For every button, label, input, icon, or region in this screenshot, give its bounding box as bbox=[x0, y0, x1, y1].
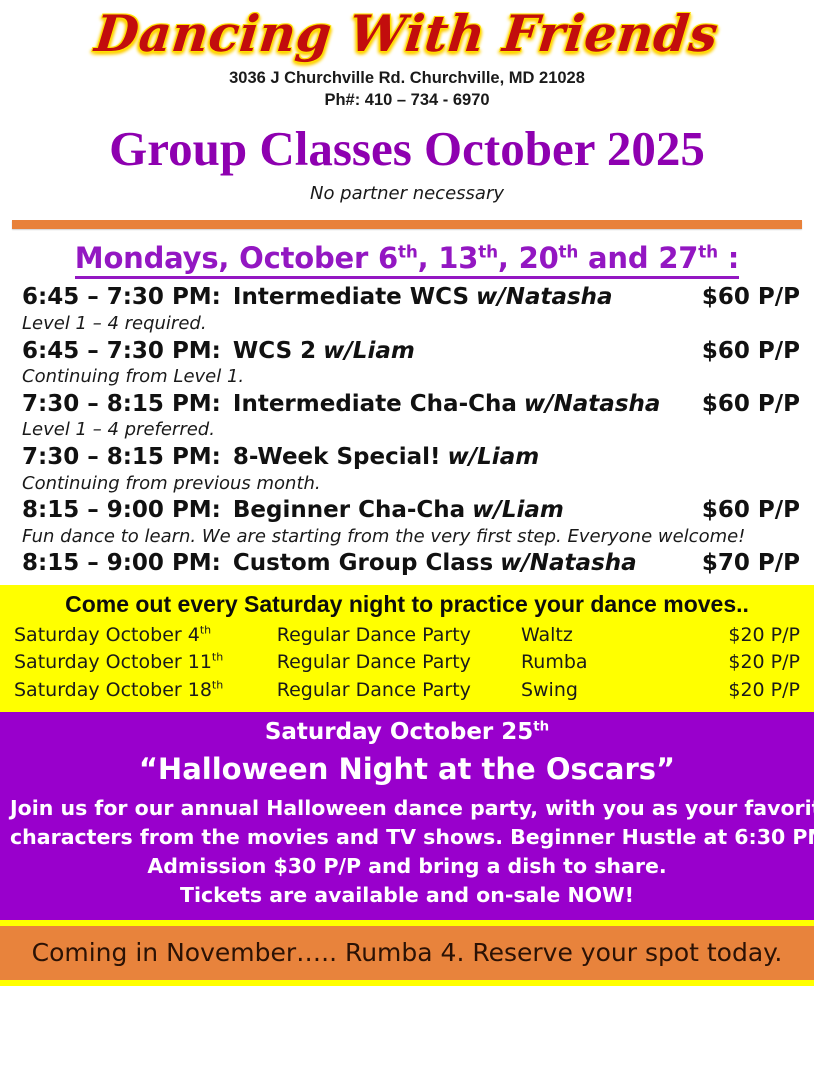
page-subtitle: No partner necessary bbox=[0, 183, 814, 204]
mondays-heading-mid1: , 13 bbox=[418, 241, 479, 275]
class-note: Level 1 – 4 preferred. bbox=[22, 419, 800, 441]
mondays-heading-mid3: and 27 bbox=[578, 241, 698, 275]
class-instructor: w/Liam bbox=[472, 497, 564, 525]
halloween-line-2: characters from the movies and TV shows.… bbox=[10, 823, 804, 852]
saturday-date: Saturday October 18th bbox=[0, 677, 277, 705]
class-name: WCS 2 bbox=[233, 338, 316, 366]
class-name: Intermediate WCS bbox=[233, 284, 469, 312]
class-instructor: w/Natasha bbox=[476, 284, 613, 312]
class-price: $70 P/P bbox=[686, 550, 800, 578]
class-name: 8-Week Special! bbox=[233, 444, 441, 472]
mondays-heading-suffix: : bbox=[718, 241, 739, 275]
ordinal-suffix: th bbox=[200, 623, 211, 636]
class-note: Continuing from previous month. bbox=[22, 473, 800, 495]
saturday-dance: Rumba bbox=[521, 649, 684, 677]
class-main-3: 7:30 – 8:15 PM: 8-Week Special! w/Liam bbox=[22, 444, 539, 472]
halloween-date: Saturday October 25th bbox=[10, 718, 804, 748]
class-note: Level 1 – 4 required. bbox=[22, 313, 800, 335]
class-main-2: 7:30 – 8:15 PM: Intermediate Cha-Cha w/N… bbox=[22, 391, 660, 419]
saturday-parties-table: Saturday October 4th Regular Dance Party… bbox=[0, 622, 814, 705]
table-row: Saturday October 18th Regular Dance Part… bbox=[0, 677, 814, 705]
class-instructor: w/Liam bbox=[448, 444, 540, 472]
ordinal-suffix-6: th bbox=[398, 242, 418, 262]
mondays-heading-mid2: , 20 bbox=[498, 241, 559, 275]
monday-class-list: 6:45 – 7:30 PM: Intermediate WCS w/Natas… bbox=[0, 284, 814, 578]
page-title: Group Classes October 2025 bbox=[0, 123, 814, 176]
class-time: 6:45 – 7:30 PM: bbox=[22, 284, 221, 312]
saturday-date-text: Saturday October 11 bbox=[14, 651, 212, 673]
mondays-heading-prefix: Mondays, October 6 bbox=[75, 241, 398, 275]
class-row: 8:15 – 9:00 PM: Beginner Cha-Cha w/Liam … bbox=[22, 497, 800, 525]
class-row: 7:30 – 8:15 PM: Intermediate Cha-Cha w/N… bbox=[22, 391, 800, 419]
halloween-line-3: Admission $30 P/P and bring a dish to sh… bbox=[10, 852, 804, 881]
mondays-heading-underlined: Mondays, October 6th, 13th, 20th and 27t… bbox=[75, 241, 739, 279]
ordinal-suffix-13: th bbox=[478, 242, 498, 262]
saturday-date-text: Saturday October 18 bbox=[14, 679, 212, 701]
class-note: Fun dance to learn. We are starting from… bbox=[22, 526, 800, 548]
halloween-date-text: Saturday October 25 bbox=[265, 719, 533, 745]
class-time: 8:15 – 9:00 PM: bbox=[22, 550, 221, 578]
studio-address-line: 3036 J Churchville Rd. Churchville, MD 2… bbox=[0, 67, 814, 89]
saturday-date: Saturday October 11th bbox=[0, 649, 277, 677]
class-instructor: w/Natasha bbox=[500, 550, 637, 578]
saturday-price: $20 P/P bbox=[684, 677, 814, 705]
class-row: 7:30 – 8:15 PM: 8-Week Special! w/Liam bbox=[22, 444, 800, 472]
class-main-0: 6:45 – 7:30 PM: Intermediate WCS w/Natas… bbox=[22, 284, 613, 312]
halloween-event-section: Saturday October 25th “Halloween Night a… bbox=[0, 712, 814, 920]
class-instructor: w/Liam bbox=[323, 338, 415, 366]
ordinal-suffix: th bbox=[533, 719, 549, 734]
class-row: 6:45 – 7:30 PM: WCS 2 w/Liam $60 P/P bbox=[22, 338, 800, 366]
class-main-5: 8:15 – 9:00 PM: Custom Group Class w/Nat… bbox=[22, 550, 637, 578]
saturday-event: Regular Dance Party bbox=[277, 649, 521, 677]
ordinal-suffix-20: th bbox=[559, 242, 579, 262]
class-price: $60 P/P bbox=[686, 338, 800, 366]
saturday-date: Saturday October 4th bbox=[0, 622, 277, 650]
saturday-dance: Swing bbox=[521, 677, 684, 705]
table-row: Saturday October 11th Regular Dance Part… bbox=[0, 649, 814, 677]
studio-contact-info: 3036 J Churchville Rd. Churchville, MD 2… bbox=[0, 67, 814, 112]
class-time: 7:30 – 8:15 PM: bbox=[22, 391, 221, 419]
coming-soon-footer: Coming in November….. Rumba 4. Reserve y… bbox=[0, 920, 814, 986]
saturday-price: $20 P/P bbox=[684, 649, 814, 677]
class-time: 8:15 – 9:00 PM: bbox=[22, 497, 221, 525]
class-time: 6:45 – 7:30 PM: bbox=[22, 338, 221, 366]
saturday-event: Regular Dance Party bbox=[277, 622, 521, 650]
class-name: Beginner Cha-Cha bbox=[233, 497, 465, 525]
class-price: $60 P/P bbox=[686, 497, 800, 525]
class-price: $60 P/P bbox=[686, 391, 800, 419]
halloween-description: Join us for our annual Halloween dance p… bbox=[10, 794, 804, 910]
studio-logo: Dancing With Friends bbox=[0, 0, 814, 61]
saturday-date-text: Saturday October 4 bbox=[14, 624, 200, 646]
class-main-1: 6:45 – 7:30 PM: WCS 2 w/Liam bbox=[22, 338, 415, 366]
class-price: $60 P/P bbox=[686, 284, 800, 312]
studio-phone-line: Ph#: 410 – 734 - 6970 bbox=[0, 89, 814, 111]
class-row: 6:45 – 7:30 PM: Intermediate WCS w/Natas… bbox=[22, 284, 800, 312]
table-row: Saturday October 4th Regular Dance Party… bbox=[0, 622, 814, 650]
saturday-banner-text: Come out every Saturday night to practic… bbox=[0, 590, 814, 622]
saturday-price: $20 P/P bbox=[684, 622, 814, 650]
ordinal-suffix: th bbox=[212, 651, 223, 664]
halloween-line-1: Join us for our annual Halloween dance p… bbox=[10, 794, 804, 823]
saturday-dance: Waltz bbox=[521, 622, 684, 650]
saturday-parties-section: Come out every Saturday night to practic… bbox=[0, 585, 814, 712]
class-row: 8:15 – 9:00 PM: Custom Group Class w/Nat… bbox=[22, 550, 800, 578]
class-time: 7:30 – 8:15 PM: bbox=[22, 444, 221, 472]
ordinal-suffix: th bbox=[212, 679, 223, 692]
class-main-4: 8:15 – 9:00 PM: Beginner Cha-Cha w/Liam bbox=[22, 497, 564, 525]
mondays-section-heading: Mondays, October 6th, 13th, 20th and 27t… bbox=[0, 241, 814, 275]
ordinal-suffix-27: th bbox=[698, 242, 718, 262]
saturday-event: Regular Dance Party bbox=[277, 677, 521, 705]
class-instructor: w/Natasha bbox=[524, 391, 661, 419]
class-name: Intermediate Cha-Cha bbox=[233, 391, 517, 419]
class-name: Custom Group Class bbox=[233, 550, 493, 578]
halloween-event-title: “Halloween Night at the Oscars” bbox=[10, 750, 804, 789]
halloween-line-4: Tickets are available and on-sale NOW! bbox=[10, 881, 804, 910]
class-note: Continuing from Level 1. bbox=[22, 366, 800, 388]
orange-divider-rule bbox=[12, 220, 802, 229]
